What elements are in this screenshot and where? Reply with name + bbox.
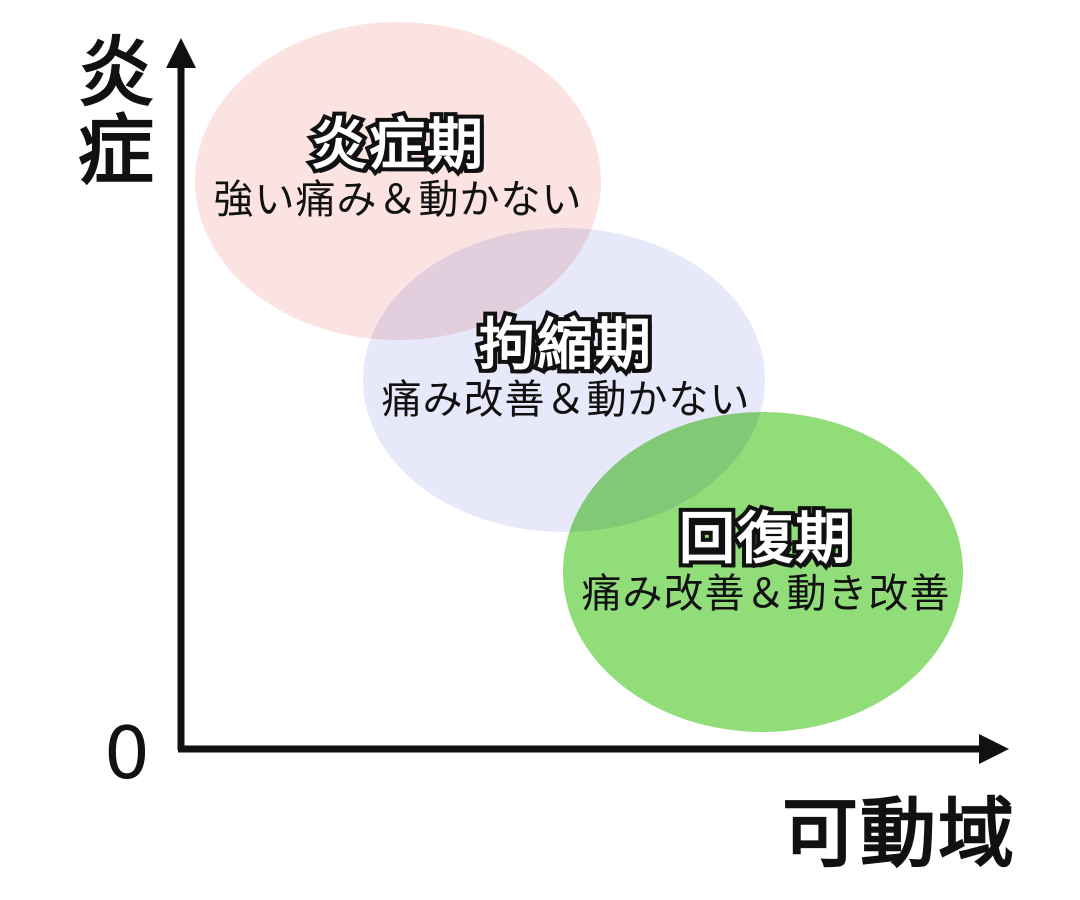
phase-title-contracture: 拘縮期 (316, 318, 816, 374)
diagram-canvas: 炎 症 0 可動域 炎症期 強い痛み＆動かない 拘縮期 痛み改善＆動かない 回復… (0, 0, 1080, 900)
phase-title-recovery: 回復期 (516, 512, 1016, 568)
x-axis-label: 可動域 (782, 772, 1016, 882)
phase-subtitle-recovery: 痛み改善＆動き改善 (516, 574, 1016, 614)
phase-subtitle-contracture: 痛み改善＆動かない (316, 380, 816, 420)
phase-label-inflammation: 炎症期 強い痛み＆動かない (148, 118, 648, 220)
phase-label-contracture: 拘縮期 痛み改善＆動かない (316, 318, 816, 420)
phase-label-recovery: 回復期 痛み改善＆動き改善 (516, 512, 1016, 614)
y-axis-label-char-1: 炎 (58, 34, 174, 112)
origin-label: 0 (104, 717, 150, 789)
phase-title-inflammation: 炎症期 (148, 118, 648, 174)
phase-subtitle-inflammation: 強い痛み＆動かない (148, 180, 648, 220)
